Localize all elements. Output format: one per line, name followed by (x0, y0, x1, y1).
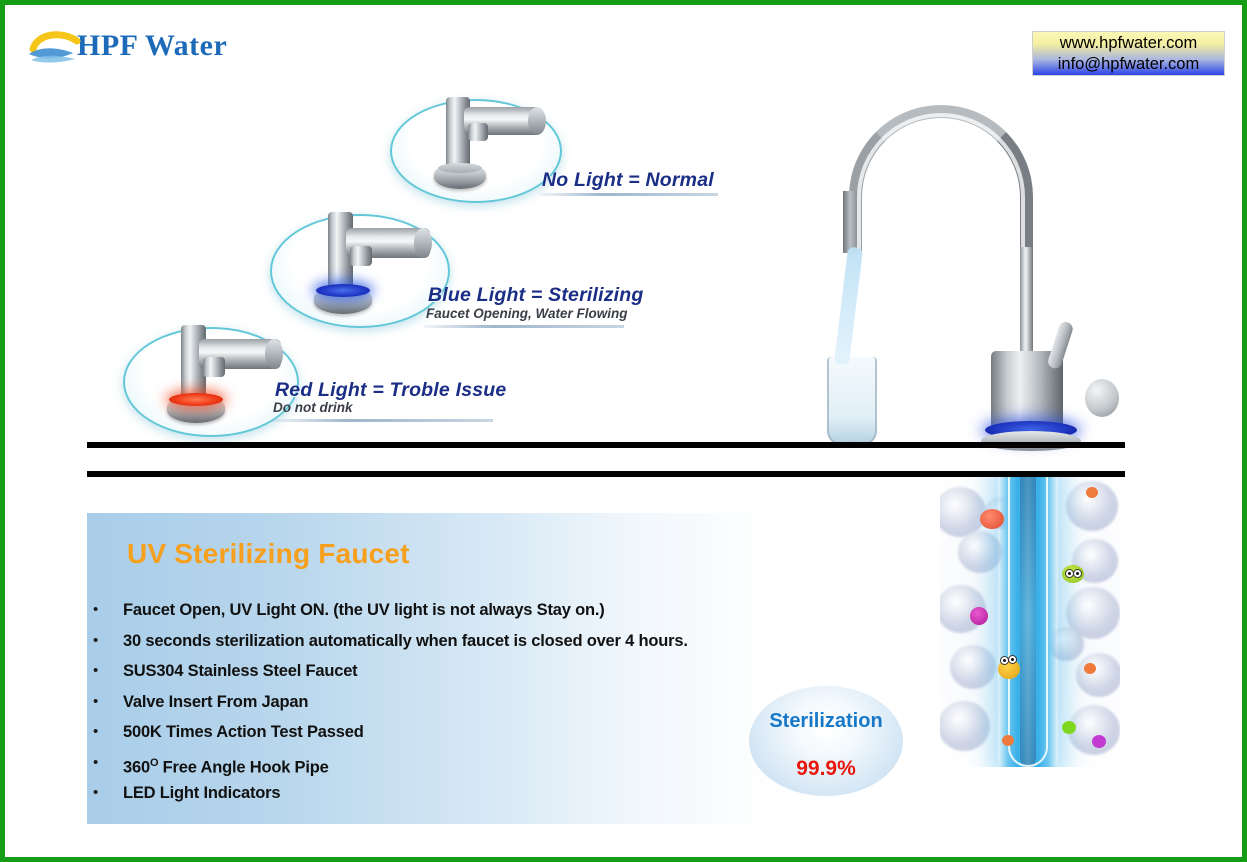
bullet-text-angle: 360O Free Angle Hook Pipe (123, 752, 329, 779)
faucet-head-no-light (412, 93, 542, 199)
germ-magenta (970, 607, 988, 625)
germ-orange-1 (1086, 487, 1098, 498)
list-item: • 500K Times Action Test Passed (93, 721, 813, 752)
callout-sub-blue-light: Faucet Opening, Water Flowing (426, 306, 628, 321)
water-stream (834, 247, 863, 366)
list-item: • Valve Insert From Japan (93, 691, 813, 722)
germ-green (1062, 565, 1084, 583)
list-item: • 360O Free Angle Hook Pipe (93, 752, 813, 783)
bullet-text-angle-rest: Free Angle Hook Pipe (158, 758, 328, 776)
bullet-text: LED Light Indicators (123, 782, 280, 804)
bullet-text: Valve Insert From Japan (123, 691, 308, 713)
callout-no-light: No Light = Normal (390, 93, 720, 205)
brand-name: HPF Water (77, 31, 227, 61)
led-indicator-red (169, 393, 223, 406)
faucet-riser (1020, 247, 1033, 357)
bullet-text: 500K Times Action Test Passed (123, 721, 364, 743)
germ-orange-2 (1084, 663, 1096, 674)
brand-logo: HPF Water (27, 25, 227, 67)
uv-tube-outline (1008, 477, 1048, 767)
bullet-dot-icon: • (93, 599, 123, 621)
callout-blue-light: Blue Light = Sterilizing Faucet Opening,… (270, 208, 630, 338)
callout-red-light: Red Light = Troble Issue Do not drink (123, 323, 503, 443)
list-item: • Faucet Open, UV Light ON. (the UV ligh… (93, 599, 813, 630)
germ-green-small (1062, 721, 1076, 734)
germ-orange-3 (1002, 735, 1014, 746)
germ-yellow (998, 659, 1020, 679)
feature-bullet-list: • Faucet Open, UV Light ON. (the UV ligh… (93, 599, 813, 813)
drinking-glass (827, 357, 877, 445)
faucet-handle-knob (1085, 379, 1119, 417)
faucet-spout (843, 191, 857, 253)
germ-red (980, 509, 1004, 529)
bullet-dot-icon: • (93, 660, 123, 682)
contact-info-box: www.hpfwater.com info@hpfwater.com (1032, 31, 1225, 76)
uv-lamp-germs-illustration (940, 477, 1120, 767)
bullet-dot-icon: • (93, 691, 123, 713)
bullet-text: Faucet Open, UV Light ON. (the UV light … (123, 599, 605, 621)
faucet-handle-lever (1046, 320, 1074, 370)
slide-frame: HPF Water www.hpfwater.com info@hpfwater… (0, 0, 1247, 862)
bullet-dot-icon: • (93, 630, 123, 652)
bullet-dot-icon: • (93, 782, 123, 804)
countertop-line-upper (87, 442, 1125, 448)
faucet-base-ring (981, 431, 1081, 451)
uv-sterilizing-faucet-photo (813, 97, 1113, 449)
wave-sun-icon (27, 29, 85, 63)
bullet-dot-icon: • (93, 752, 123, 774)
callout-sub-red-light: Do not drink (273, 400, 353, 415)
bullet-text: 30 seconds sterilization automatically w… (123, 630, 688, 652)
faucet-head-blue-light (294, 208, 430, 328)
website-text[interactable]: www.hpfwater.com (1033, 33, 1224, 54)
email-text[interactable]: info@hpfwater.com (1033, 54, 1224, 75)
led-indicator-blue (316, 284, 370, 297)
list-item: • SUS304 Stainless Steel Faucet (93, 660, 813, 691)
callout-label-blue-light: Blue Light = Sterilizing (428, 284, 644, 307)
faucet-head-red-light (147, 323, 283, 435)
germ-purple (1092, 735, 1106, 748)
page-title: UV Sterilizing Faucet (127, 538, 410, 570)
bullet-dot-icon: • (93, 721, 123, 743)
sterilization-label: Sterilization (749, 710, 903, 733)
bullet-text-angle-num: 360 (123, 758, 150, 776)
list-item: • LED Light Indicators (93, 782, 813, 813)
callout-label-no-light: No Light = Normal (542, 169, 714, 192)
bullet-text: SUS304 Stainless Steel Faucet (123, 660, 357, 682)
list-item: • 30 seconds sterilization automatically… (93, 630, 813, 661)
sterilization-value: 99.9% (749, 757, 903, 781)
callout-label-red-light: Red Light = Troble Issue (275, 379, 506, 402)
